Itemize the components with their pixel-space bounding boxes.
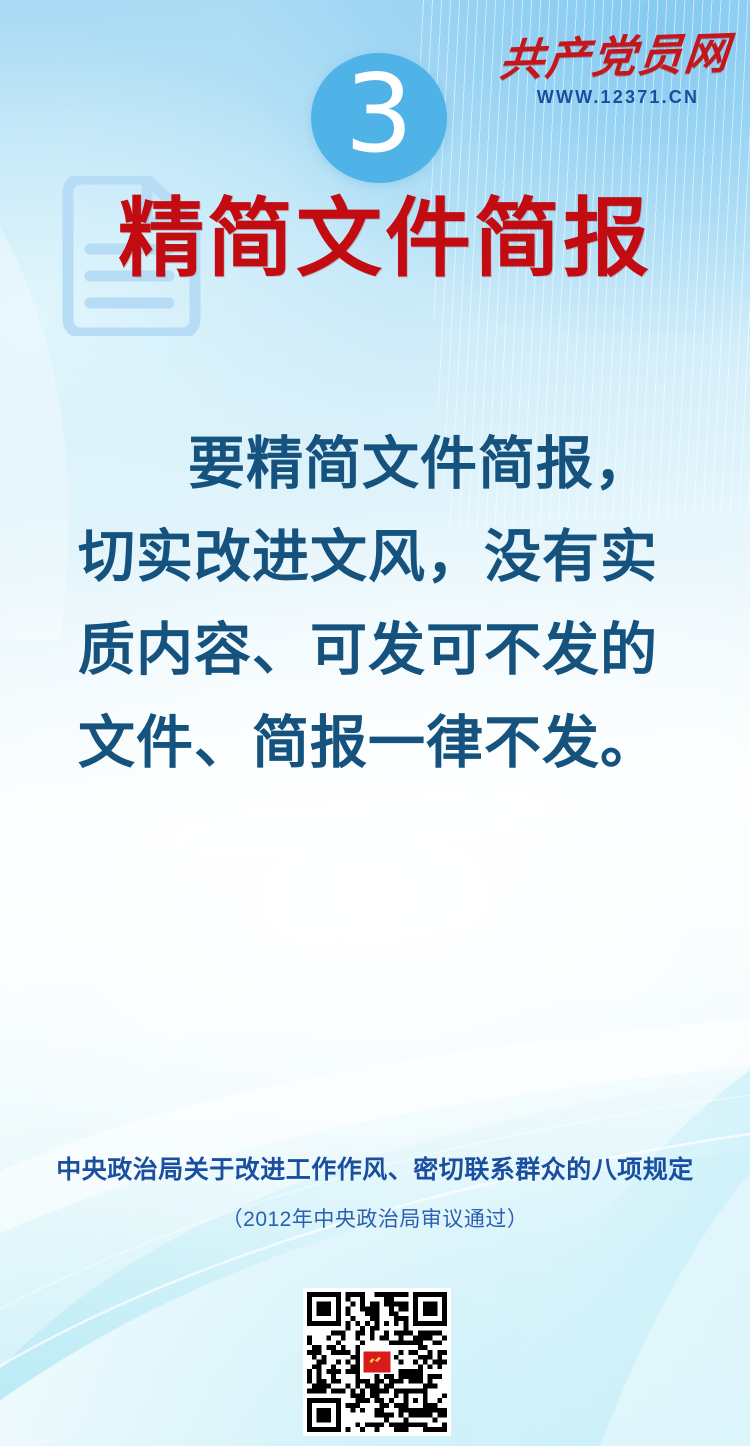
qr-code[interactable]	[303, 1288, 451, 1436]
site-logo-mark: 共产党员网	[498, 32, 729, 84]
page-title: 精简文件简报	[118, 196, 652, 282]
item-number-badge: 3	[311, 53, 447, 183]
hammer-sickle-glyph	[369, 1356, 386, 1369]
body-paragraph: 要精简文件简报，切实改进文风，没有实质内容、可发可不发的文件、简报一律不发。	[78, 418, 678, 790]
party-emblem-icon	[363, 1351, 392, 1374]
site-logo[interactable]: 共产党员网 WWW.12371.CN	[500, 36, 726, 108]
footer-subtitle: （2012年中央政治局审议通过）	[0, 1203, 750, 1233]
footer-title: 中央政治局关于改进工作作风、密切联系群众的八项规定	[0, 1150, 750, 1186]
site-logo-url: WWW.12371.CN	[510, 87, 726, 108]
item-number: 3	[345, 61, 414, 169]
poster-canvas: 共产党员网 WWW.12371.CN 3 精简文件简报 要精简文件简报，切实改进…	[0, 0, 750, 1446]
footer: 中央政治局关于改进工作作风、密切联系群众的八项规定 （2012年中央政治局审议通…	[0, 1150, 750, 1233]
